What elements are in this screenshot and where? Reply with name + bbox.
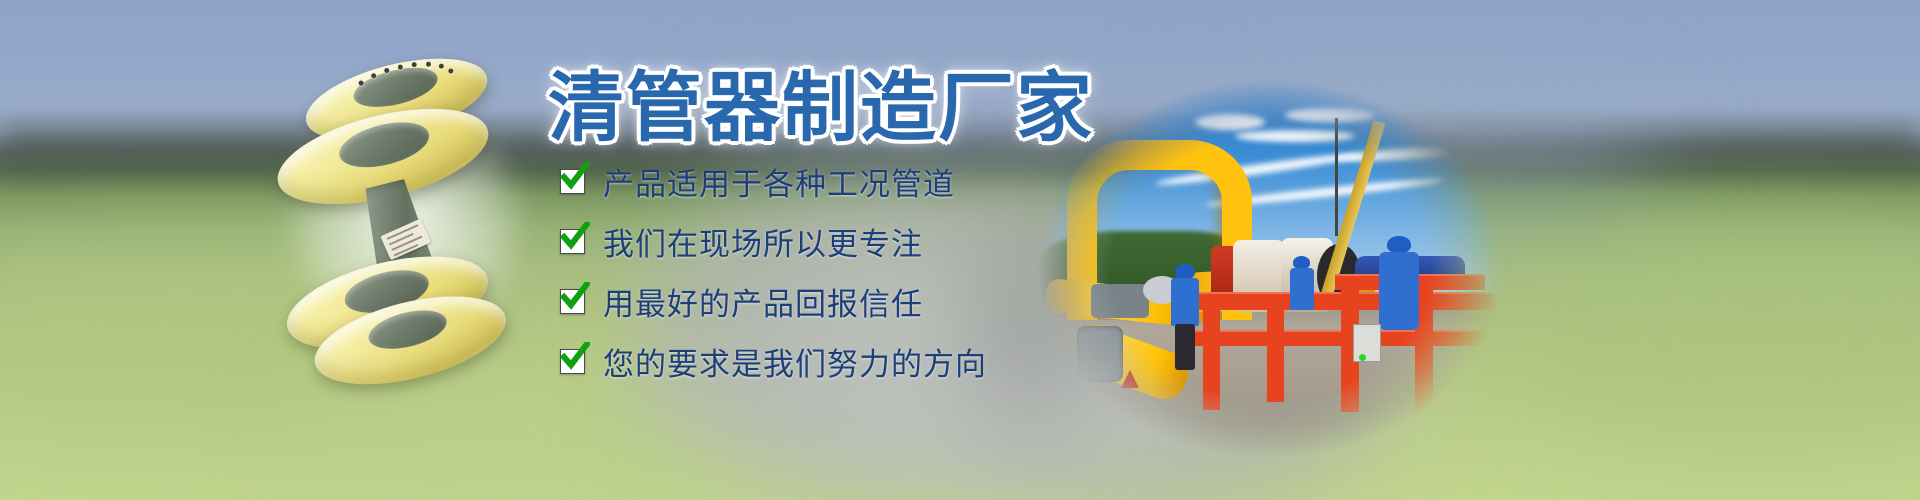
list-item-label: 产品适用于各种工况管道 xyxy=(603,159,955,204)
photo-worker xyxy=(1171,278,1199,326)
photo-indicator-light xyxy=(1359,354,1366,361)
photo-control-box xyxy=(1353,324,1381,362)
pipeline-pig-product-photo xyxy=(221,28,590,411)
list-item: 产品适用于各种工况管道 xyxy=(560,158,987,204)
check-square-icon xyxy=(560,229,585,254)
photo-pipe-flange xyxy=(1077,326,1123,382)
photo-worker-helmet xyxy=(1175,264,1195,279)
photo-rack-post xyxy=(1203,292,1220,410)
photo-worker xyxy=(1290,268,1314,310)
pipeline-pig-launcher-site-photo xyxy=(1035,78,1505,460)
check-square-icon xyxy=(560,349,585,374)
photo-crane-cable xyxy=(1335,118,1338,236)
photo-flow-arrow-icon xyxy=(1121,370,1139,388)
photo-rack-post xyxy=(1267,292,1284,402)
list-item: 我们在现场所以更专注 xyxy=(560,218,987,264)
list-item-label: 您的要求是我们努力的方向 xyxy=(603,339,987,384)
list-item-label: 用最好的产品回报信任 xyxy=(603,279,923,324)
list-item: 您的要求是我们努力的方向 xyxy=(560,338,987,384)
photo-valve xyxy=(1091,284,1149,318)
photo-worker-legs xyxy=(1175,324,1195,370)
photo-worker-helmet xyxy=(1387,236,1411,253)
promo-banner: 清管器制造厂家 产品适用于各种工况管道 我们在现场所以更专注 xyxy=(0,0,1920,500)
check-square-icon xyxy=(560,289,585,314)
list-item: 用最好的产品回报信任 xyxy=(560,278,987,324)
check-square-icon xyxy=(560,169,585,194)
page-title: 清管器制造厂家 xyxy=(548,46,1094,156)
feature-list: 产品适用于各种工况管道 我们在现场所以更专注 用最好的产品回报信任 xyxy=(560,158,987,398)
list-item-label: 我们在现场所以更专注 xyxy=(603,219,923,264)
photo-worker xyxy=(1379,252,1419,330)
